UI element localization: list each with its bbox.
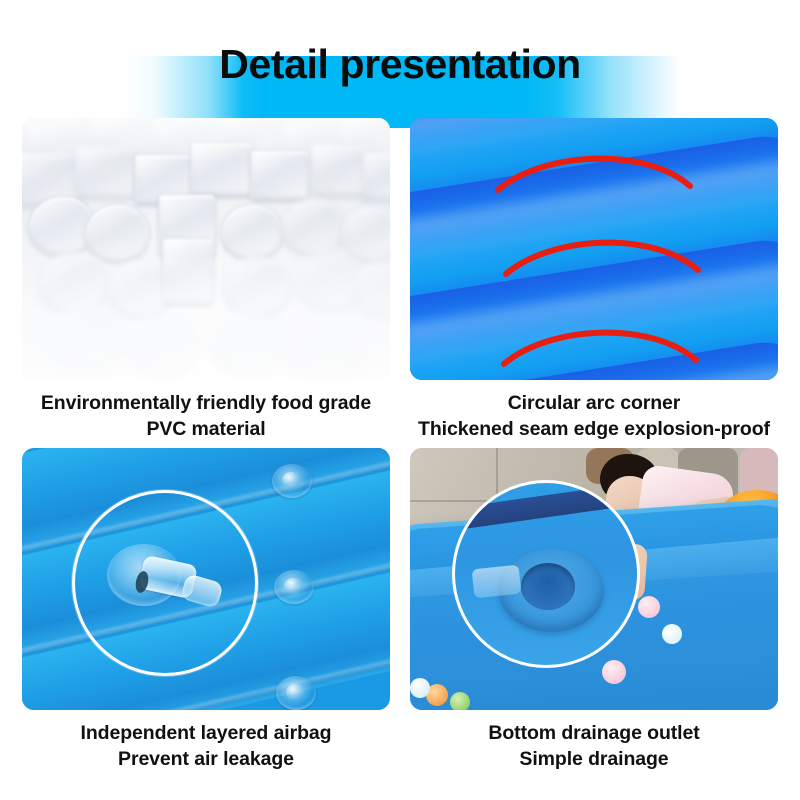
feature-grid: Environmentally friendly food grade PVC …	[0, 118, 800, 798]
pvc-pellets-scene	[22, 118, 390, 380]
pool-ball	[410, 678, 430, 698]
caption-layered-airbag: Independent layered airbag Prevent air l…	[22, 720, 390, 772]
caption-line-2: Simple drainage	[410, 746, 778, 772]
red-arc-annotation	[502, 230, 702, 282]
air-valve-scene	[22, 448, 390, 710]
caption-line-2: Thickened seam edge explosion-proof	[410, 416, 778, 442]
caption-line-2: Prevent air leakage	[22, 746, 390, 772]
feature-card-drainage-outlet: Bottom drainage outlet Simple drainage	[410, 448, 778, 772]
air-valve	[274, 570, 314, 604]
feature-card-arc-corner: Circular arc corner Thickened seam edge …	[410, 118, 778, 442]
header-banner: Detail presentation	[0, 28, 800, 100]
pool-ball	[450, 692, 470, 710]
air-valve-photo	[22, 448, 390, 710]
caption-pvc-material: Environmentally friendly food grade PVC …	[22, 390, 390, 442]
child-pool-photo	[410, 448, 778, 710]
inflatable-bands-scene	[410, 118, 778, 380]
pool-ball	[602, 660, 626, 684]
zoom-callout-circle	[452, 480, 640, 668]
feature-card-pvc-material: Environmentally friendly food grade PVC …	[22, 118, 390, 442]
red-arc-annotation	[500, 320, 700, 372]
child-pool-scene	[410, 448, 778, 710]
caption-line-1: Independent layered airbag	[81, 722, 332, 744]
open-air-valve	[107, 538, 203, 622]
caption-line-1: Circular arc corner	[508, 392, 681, 414]
air-valve	[276, 676, 316, 710]
caption-line-2: PVC material	[22, 416, 390, 442]
caption-drainage-outlet: Bottom drainage outlet Simple drainage	[410, 720, 778, 772]
caption-line-1: Bottom drainage outlet	[488, 722, 699, 744]
caption-line-1: Environmentally friendly food grade	[41, 392, 371, 414]
page-title: Detail presentation	[0, 28, 800, 100]
detail-presentation-page: Detail presentation	[0, 0, 800, 800]
pvc-pellets-photo	[22, 118, 390, 380]
pool-ball	[662, 624, 682, 644]
feature-card-layered-airbag: Independent layered airbag Prevent air l…	[22, 448, 390, 772]
red-arc-annotation	[494, 146, 694, 198]
seam-edge-photo	[410, 118, 778, 380]
caption-arc-corner: Circular arc corner Thickened seam edge …	[410, 390, 778, 442]
pool-ball	[638, 596, 660, 618]
air-valve	[272, 464, 312, 498]
